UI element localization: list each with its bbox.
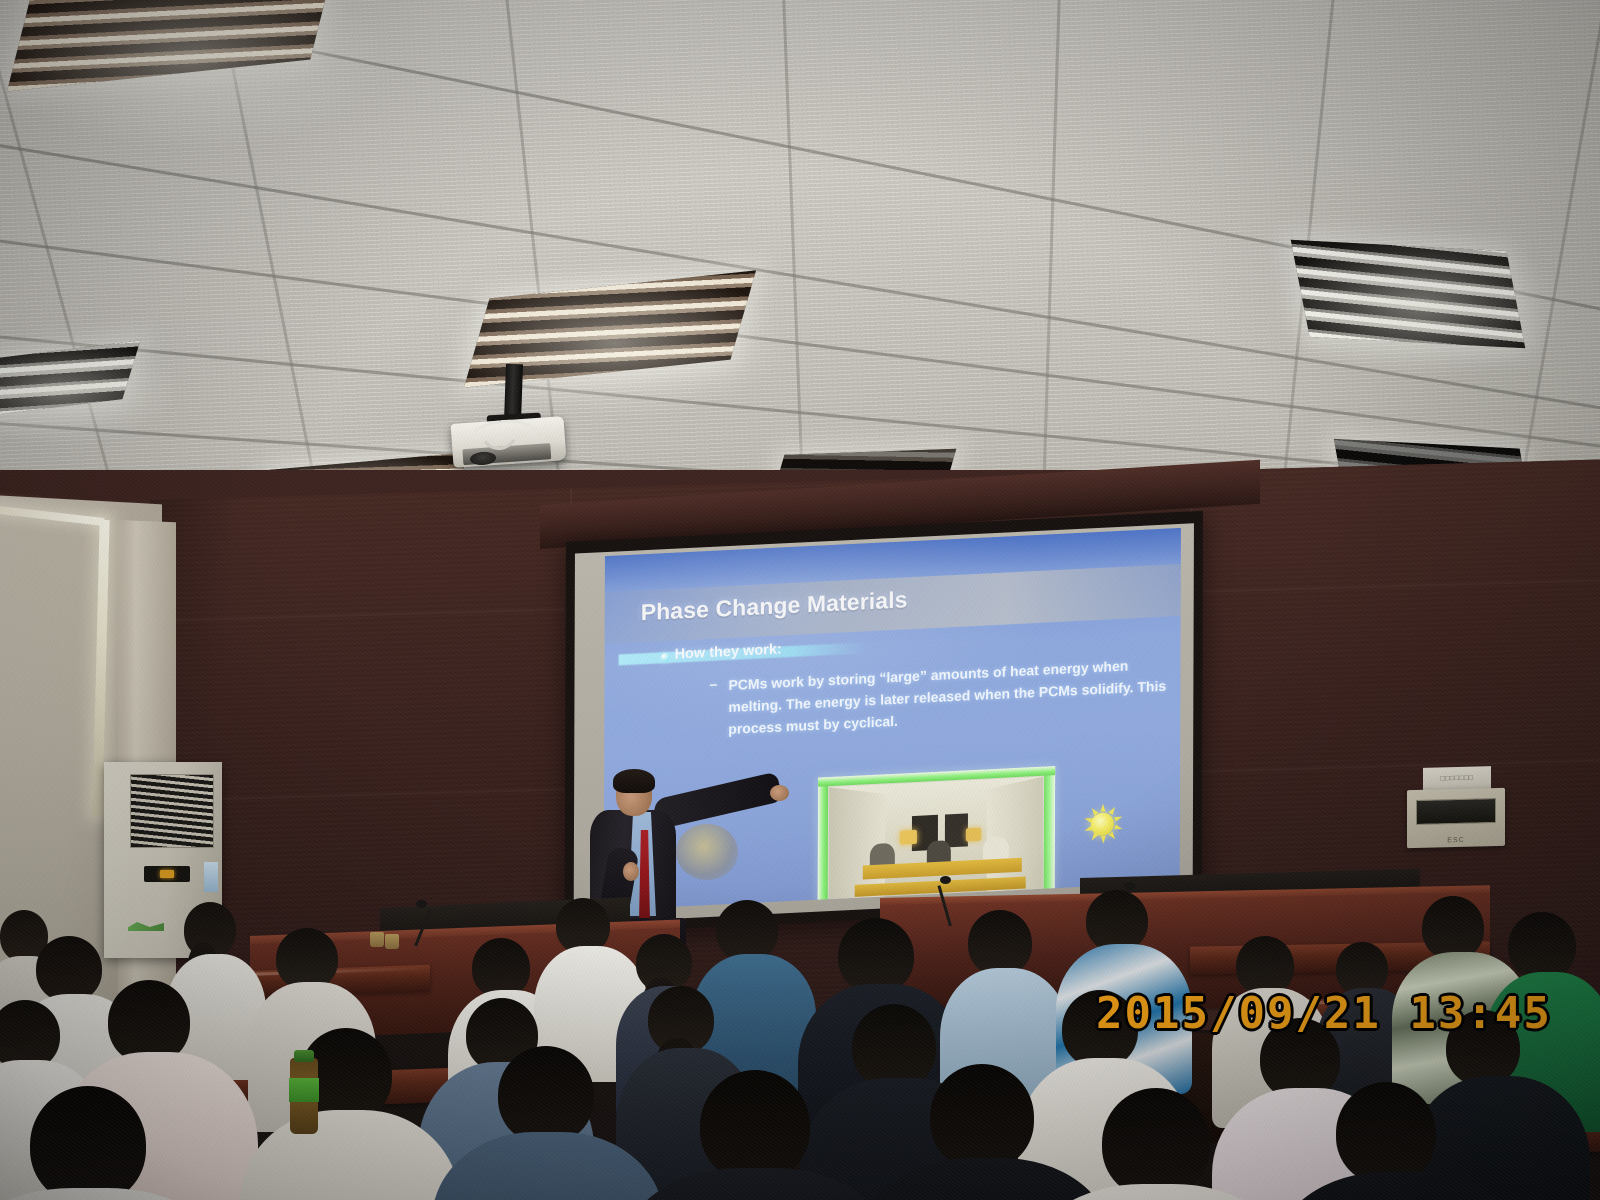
slide-bullet-level1: How they work: — [675, 641, 782, 662]
photograph: □□□□□□□ ESC Phase Change Materials How t… — [0, 0, 1600, 1200]
picture-frame-right — [1044, 766, 1055, 895]
picture-frame-left — [818, 777, 828, 906]
wall-sign: □□□□□□□ — [1423, 766, 1491, 791]
sun-icon — [1082, 803, 1122, 845]
desk-cup-2 — [385, 934, 399, 949]
wall-control-panel[interactable]: ESC — [1407, 788, 1505, 848]
ac-sticker — [204, 862, 218, 892]
water-bottle-cap — [294, 1050, 314, 1062]
presenter-hand — [770, 785, 789, 801]
desk-cup-1 — [370, 932, 384, 947]
wall-panel-label: ESC — [1407, 836, 1505, 845]
ceiling-light-top-right — [1291, 240, 1526, 348]
wall-sign-text: □□□□□□□ — [1440, 775, 1473, 783]
presenter-hair — [613, 769, 655, 793]
slide-sub-bullet-text: PCMs work by storing “large” amounts of … — [728, 653, 1166, 740]
ac-display — [144, 866, 190, 882]
ac-brand-logo — [128, 922, 164, 931]
wall-panel-window — [1416, 798, 1496, 825]
wall-sconce — [676, 824, 738, 880]
slide-sub-bullet-dash: – — [709, 676, 717, 692]
camera-timestamp: 2015/09/21 13:45 — [1096, 988, 1552, 1039]
slide-picture-content — [829, 777, 1043, 905]
slide-embedded-picture — [818, 766, 1055, 906]
ac-grille — [130, 774, 214, 848]
water-bottle-band — [289, 1078, 319, 1102]
presenter-hand-left — [623, 862, 639, 881]
